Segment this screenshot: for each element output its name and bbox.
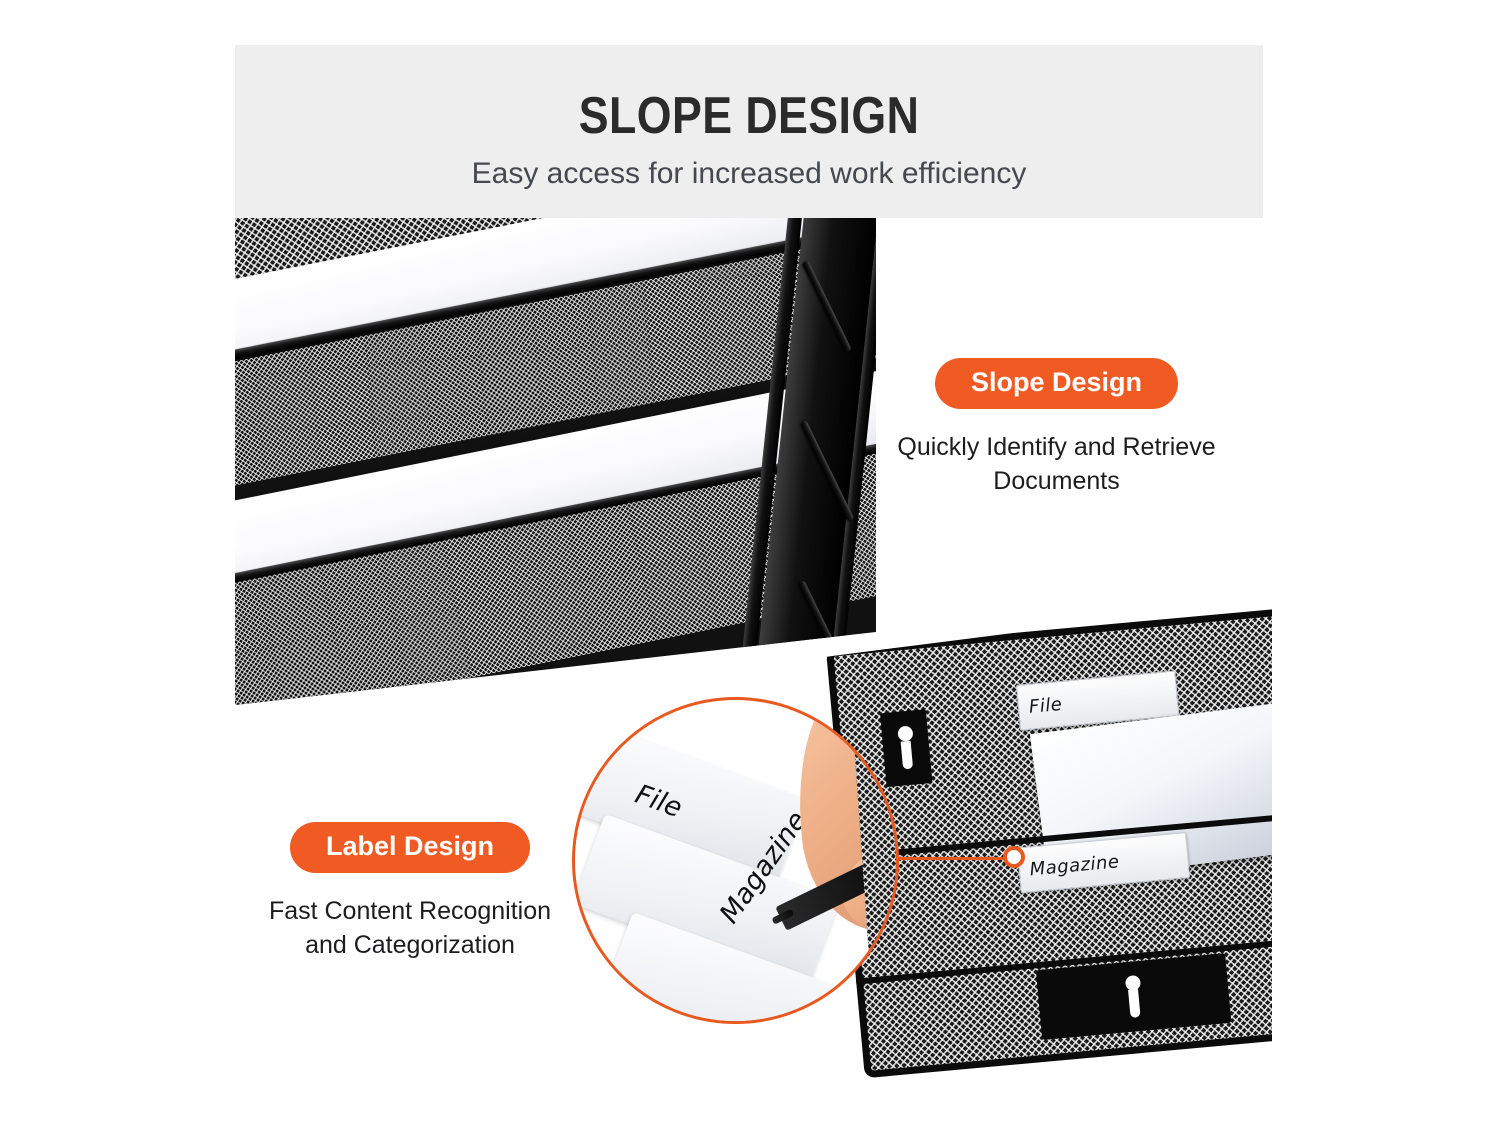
callout-slope-description: Quickly Identify and Retrieve Documents xyxy=(884,431,1229,499)
product-infographic: SLOPE DESIGN Easy access for increased w… xyxy=(0,0,1500,1125)
callout-slope-design: Slope Design Quickly Identify and Retrie… xyxy=(884,358,1229,499)
callout-label-design: Label Design Fast Content Recognition an… xyxy=(240,822,580,963)
callout-label-description: Fast Content Recognition and Categorizat… xyxy=(240,895,580,963)
top-product-photo: B R xyxy=(235,218,876,705)
callout-connector-line xyxy=(896,857,1009,860)
label-tag-file-text: File xyxy=(1028,693,1063,717)
label-tag-magazine-text: Magazine xyxy=(1029,851,1120,880)
magnifier-inset: File Magazine xyxy=(572,697,899,1024)
magnifier-scene: File Magazine xyxy=(575,700,896,1021)
page-title: SLOPE DESIGN xyxy=(579,89,920,144)
callout-connector-ring xyxy=(1003,846,1025,868)
badge-label-design[interactable]: Label Design xyxy=(290,822,530,873)
page-subtitle: Easy access for increased work efficienc… xyxy=(472,157,1027,191)
badge-slope-design[interactable]: Slope Design xyxy=(935,358,1178,409)
header-band: SLOPE DESIGN Easy access for increased w… xyxy=(235,45,1263,218)
